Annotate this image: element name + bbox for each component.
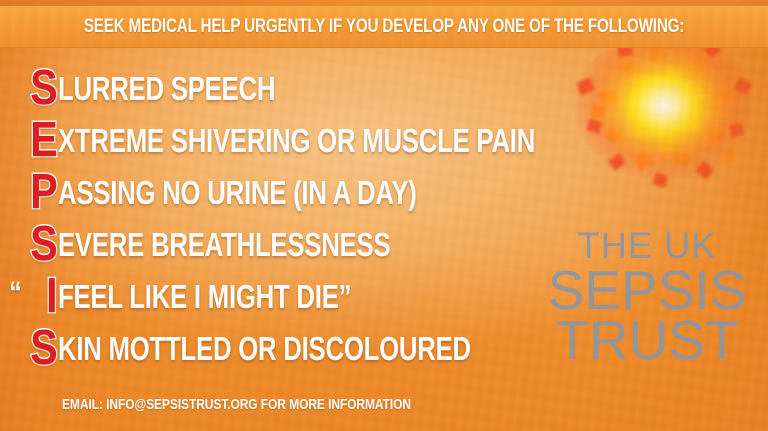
- symptom-row: E XTREME SHIVERING OR MUSCLE PAIN: [0, 114, 540, 166]
- symptom-list: S LURRED SPEECH E XTREME SHIVERING OR MU…: [0, 62, 540, 374]
- acronym-letter-cell: S: [0, 64, 60, 113]
- symptom-text: LURRED SPEECH: [58, 72, 275, 105]
- symptom-text: XTREME SHIVERING OR MUSCLE PAIN: [58, 124, 535, 157]
- symptom-row: S KIN MOTTLED OR DISCOLOURED: [0, 322, 540, 374]
- symptom-row: S LURRED SPEECH: [0, 62, 540, 114]
- acronym-letter: S: [31, 324, 58, 373]
- acronym-letter-cell: S: [0, 220, 60, 269]
- quote-open-mark: “: [9, 278, 22, 308]
- sepsis-awareness-poster: SEEK MEDICAL HELP URGENTLY IF YOU DEVELO…: [0, 0, 768, 431]
- symptom-text: EVERE BREATHLESSNESS: [58, 228, 390, 261]
- acronym-letter-cell: P: [0, 168, 60, 217]
- symptom-text: ASSING NO URINE (IN A DAY): [58, 176, 417, 209]
- symptom-text: FEEL LIKE I MIGHT DIE”: [58, 280, 351, 313]
- acronym-letter: I: [47, 272, 58, 321]
- acronym-letter-cell: E: [0, 116, 60, 165]
- symptom-row: P ASSING NO URINE (IN A DAY): [0, 166, 540, 218]
- acronym-letter-cell: S: [0, 324, 60, 373]
- logo-line-trust: TRUST: [533, 312, 761, 368]
- header-band: SEEK MEDICAL HELP URGENTLY IF YOU DEVELO…: [0, 6, 768, 48]
- contact-email-line: EMAIL: INFO@SEPSISTRUST.ORG FOR MORE INF…: [62, 396, 411, 413]
- acronym-letter: S: [31, 64, 58, 113]
- page-title: SEEK MEDICAL HELP URGENTLY IF YOU DEVELO…: [77, 6, 691, 48]
- symptom-row: S EVERE BREATHLESSNESS: [0, 218, 540, 270]
- acronym-letter-cell: “ I: [0, 272, 60, 321]
- acronym-letter: S: [31, 220, 58, 269]
- acronym-letter: P: [31, 168, 58, 217]
- symptom-row: “ I FEEL LIKE I MIGHT DIE”: [0, 270, 540, 322]
- logo-line-the-uk: THE UK: [535, 228, 758, 264]
- symptom-text: KIN MOTTLED OR DISCOLOURED: [58, 332, 471, 365]
- acronym-letter: E: [31, 116, 58, 165]
- uk-sepsis-trust-logo: THE UK SEPSIS TRUST: [533, 228, 761, 368]
